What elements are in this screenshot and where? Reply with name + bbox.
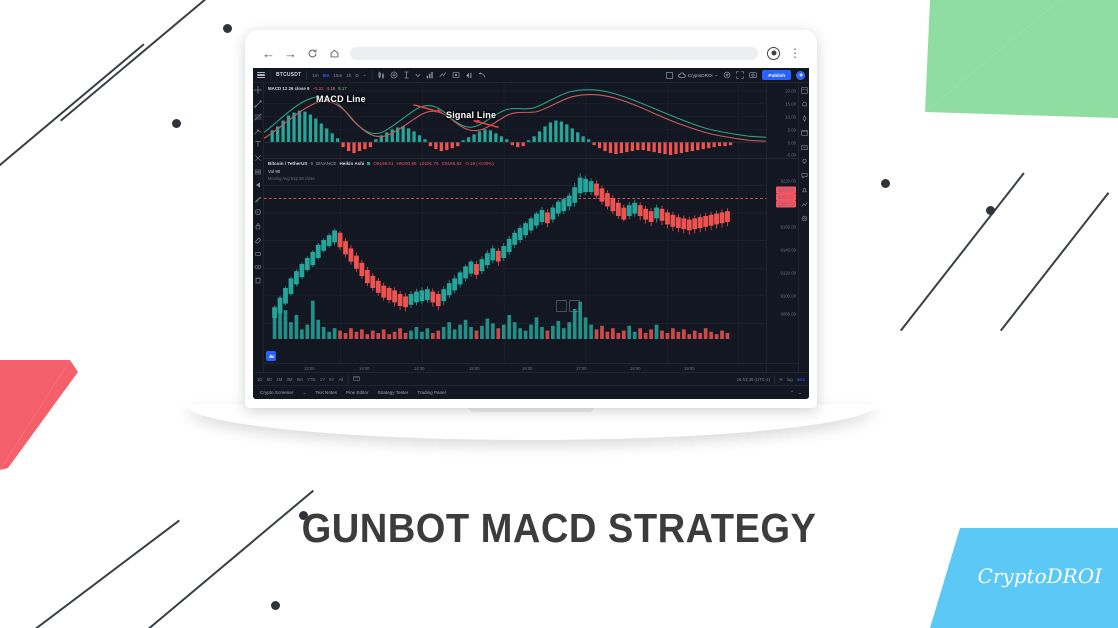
divider: [270, 71, 271, 80]
settings-icon[interactable]: [723, 71, 731, 79]
expand-icon[interactable]: ⌃: [790, 390, 794, 396]
divider: [372, 71, 373, 80]
time-axis-corner: [766, 364, 798, 372]
time-tick: 15:00: [469, 366, 479, 371]
deco-dot-4: [986, 206, 995, 215]
divider: [348, 375, 349, 384]
tab-crypto-screener[interactable]: Crypto Screener: [260, 390, 293, 395]
chart-body: MACD 12 26 close 9 −5.22 4.15 9.17: [253, 83, 809, 372]
shapes-icon[interactable]: [254, 154, 262, 162]
laptop-mockup: ← → ⋮ BTCUSDT: [231, 30, 831, 440]
range-5y[interactable]: 5Y: [329, 377, 334, 382]
reload-icon[interactable]: [306, 47, 319, 60]
divider: [306, 71, 307, 80]
clock-label: 18:53:39 (UTC-4): [737, 377, 770, 382]
browser-window: ← → ⋮ BTCUSDT: [253, 38, 809, 399]
arrow-icon[interactable]: [254, 181, 262, 189]
tradingview-app: BTCUSDT 1m 5m 15m 1h D ⌄: [253, 68, 809, 399]
chevron-down-icon[interactable]: ⌄: [302, 390, 306, 396]
scale-percent-button[interactable]: %: [779, 377, 783, 382]
deco-dot-6: [271, 601, 280, 610]
volume-legend: Vol 90: [268, 169, 280, 174]
watchlist-icon[interactable]: [800, 86, 808, 94]
interval-label: 5: [310, 161, 313, 166]
address-bar[interactable]: [350, 47, 758, 60]
laptop-base: [186, 404, 876, 440]
price-chart-svg: [264, 159, 766, 363]
macd-scale-tick: 0.00: [788, 141, 796, 146]
browser-toolbar: ← → ⋮: [253, 38, 809, 68]
cloud-icon: [678, 72, 686, 78]
hamburger-icon[interactable]: [257, 72, 265, 78]
symbol-label[interactable]: BTCUSDT: [276, 72, 301, 78]
browser-menu-icon[interactable]: ⋮: [789, 47, 800, 60]
macd-value-signal: 9.17: [338, 86, 347, 91]
ohlc-open: O9198.61: [373, 161, 393, 166]
instrument-name[interactable]: Bitcoin / TetherUS: [268, 161, 307, 166]
range-1y[interactable]: 1Y: [320, 377, 325, 382]
profile-icon[interactable]: [767, 47, 780, 60]
tab-pine-editor[interactable]: Pine Editor: [346, 390, 368, 395]
macd-scale-tick: 15.00: [785, 102, 796, 107]
timeframe-1m[interactable]: 1m: [312, 73, 318, 78]
notifications-icon[interactable]: [800, 186, 808, 194]
chart-toolbar-right: CryptoDROi ⌄ Publish: [666, 70, 805, 80]
chart-toolbar: BTCUSDT 1m 5m 15m 1h D ⌄: [253, 68, 809, 83]
macd-scale-tick: 10.00: [785, 115, 796, 120]
right-sidebar: [798, 83, 809, 372]
range-1m[interactable]: 1M: [276, 377, 282, 382]
price-scale-tick: 9140.00: [780, 248, 796, 253]
timeframe-group: 1m 5m 15m 1h D ⌄: [312, 72, 366, 78]
avatar[interactable]: [796, 71, 805, 80]
range-1d[interactable]: 1D: [257, 377, 263, 382]
annotation-macd-line: MACD Line: [316, 94, 366, 104]
time-tick: 14:30: [414, 366, 424, 371]
panel-controls: ⌃ ⌄: [790, 390, 802, 396]
price-pane: Bitcoin / TetherUS 5 BINANCE Heikin Ashi…: [264, 159, 798, 363]
ideas-icon[interactable]: [800, 157, 808, 165]
calendar-icon[interactable]: [800, 129, 808, 137]
tab-strategy-tester[interactable]: Strategy Tester: [378, 390, 409, 395]
tab-text-notes[interactable]: Text Notes: [315, 390, 337, 395]
user-name-label: CryptoDROi: [688, 73, 713, 78]
patterns-icon[interactable]: [254, 168, 262, 176]
scale-log-button[interactable]: log: [787, 377, 793, 382]
range-5d[interactable]: 5D: [267, 377, 273, 382]
news-icon[interactable]: [800, 143, 808, 151]
price-scale-tick: 9160.00: [780, 225, 796, 230]
fib-icon[interactable]: [254, 113, 262, 121]
range-3m[interactable]: 3M: [287, 377, 293, 382]
price-scale-tick: 9100.00: [780, 294, 796, 299]
magnet-icon[interactable]: [254, 208, 262, 216]
range-ytd[interactable]: YTD: [307, 377, 316, 382]
indicator-legend: Moving Avg Exp 50 close: [268, 176, 315, 181]
home-icon[interactable]: [328, 47, 341, 60]
hotlist-icon[interactable]: [800, 115, 808, 123]
macd-scale-tick: 20.00: [785, 89, 796, 94]
user-menu[interactable]: CryptoDROi ⌄: [678, 72, 719, 78]
timeframe-1h[interactable]: 1h: [346, 73, 351, 78]
eraser-icon[interactable]: [254, 236, 262, 244]
timeframe-5m[interactable]: 5m: [323, 73, 330, 78]
divider: [774, 375, 775, 384]
price-legend: Bitcoin / TetherUS 5 BINANCE Heikin Ashi…: [268, 161, 494, 166]
collapse-icon[interactable]: ⌄: [798, 390, 802, 396]
goto-date-icon[interactable]: [353, 375, 360, 383]
status-dot: [367, 162, 370, 165]
data-window-icon[interactable]: [800, 200, 808, 208]
candles-icon[interactable]: [378, 71, 385, 79]
range-6m[interactable]: 6M: [297, 377, 303, 382]
settings-icon[interactable]: [800, 215, 808, 223]
deco-dot-2: [172, 119, 181, 128]
time-tick: 13:00: [304, 366, 314, 371]
price-scale-tick: 9080.00: [780, 312, 796, 317]
chat-icon[interactable]: [800, 172, 808, 180]
page-title: GUNBOT MACD STRATEGY: [39, 505, 1079, 552]
ohlc-high: H9200.85: [397, 161, 417, 166]
chart-footer: 1D 5D 1M 3M 6M YTD 1Y 5Y All 18:53:39 (U…: [253, 372, 809, 385]
timeframe-15m[interactable]: 15m: [333, 73, 342, 78]
price-tag-low: 9184.51: [776, 201, 796, 208]
time-axis[interactable]: 13:00 14:00 14:30 15:00 16:00 17:00 18:0…: [264, 363, 798, 372]
bottom-panel-tabs: Crypto Screener ⌄ Text Notes Pine Editor…: [253, 385, 809, 399]
brand-logo: CryptoDROI: [978, 564, 1102, 588]
macd-price-scale[interactable]: 20.00 15.00 10.00 5.00 0.00 -5.00: [766, 83, 798, 158]
alert-icon[interactable]: [452, 71, 460, 79]
hide-drawings-icon[interactable]: [254, 249, 262, 257]
scale-auto-button[interactable]: auto: [797, 377, 805, 382]
chart-panes: MACD 12 26 close 9 −5.22 4.15 9.17: [264, 83, 798, 372]
brush-icon[interactable]: [254, 195, 262, 203]
macd-scale-tick: 5.00: [788, 128, 796, 133]
price-scale-tick: 9220.00: [780, 179, 796, 184]
price-scale-tick: 9120.00: [780, 271, 796, 276]
macd-legend-title: MACD 12 26 close 9: [268, 86, 310, 91]
publish-button[interactable]: Publish: [762, 70, 791, 80]
macd-plot[interactable]: MACD 12 26 close 9 −5.22 4.15 9.17: [264, 83, 766, 158]
time-tick: 16:00: [522, 366, 532, 371]
ohlc-close: C9195.82: [442, 161, 462, 166]
fullscreen-icon[interactable]: [736, 71, 744, 79]
candlesticks: [273, 173, 730, 319]
macd-scale-tick: -5.00: [786, 153, 796, 158]
bars-icon[interactable]: [426, 71, 434, 79]
volume-bars: [273, 301, 730, 339]
chevron-down-icon[interactable]: ⌄: [715, 72, 719, 78]
undo-icon[interactable]: [478, 72, 486, 79]
price-plot[interactable]: Bitcoin / TetherUS 5 BINANCE Heikin Ashi…: [264, 159, 766, 363]
deco-dot-3: [881, 179, 890, 188]
layout-icon[interactable]: [666, 72, 673, 79]
indicators-icon[interactable]: [390, 71, 398, 79]
ohlc-low: L9191.76: [419, 161, 438, 166]
price-tag-mid: 9191.07: [776, 194, 796, 201]
macd-value-hist: −5.22: [313, 86, 324, 91]
forward-icon[interactable]: →: [284, 47, 297, 60]
drawing-toolbar: [253, 83, 264, 372]
macd-pane: MACD 12 26 close 9 −5.22 4.15 9.17: [264, 83, 798, 159]
macd-value-macd: 4.15: [327, 86, 336, 91]
chevron-down-icon[interactable]: ⌄: [363, 72, 367, 78]
replay-icon[interactable]: [465, 72, 473, 79]
exchange-label: BINANCE: [316, 161, 336, 166]
annotation-signal-line: Signal Line: [446, 110, 496, 120]
macd-legend: MACD 12 26 close 9 −5.22 4.15 9.17: [268, 86, 347, 91]
text-icon[interactable]: [254, 140, 262, 148]
time-tick: 19:00: [684, 366, 694, 371]
timeframe-d[interactable]: D: [355, 73, 358, 78]
laptop-screen: ← → ⋮ BTCUSDT: [245, 30, 817, 408]
chevron-down-icon[interactable]: [415, 72, 421, 78]
pitchfork-icon[interactable]: [254, 127, 262, 135]
trend-line-icon[interactable]: [254, 100, 262, 108]
time-tick: 14:00: [359, 366, 369, 371]
back-icon[interactable]: ←: [262, 47, 275, 60]
range-all[interactable]: All: [339, 377, 344, 382]
chart-footer-right: 18:53:39 (UTC-4) % log auto: [737, 375, 805, 384]
snapshot-icon[interactable]: [749, 71, 757, 79]
price-tag-high: 9195.82: [776, 187, 796, 194]
cursor-icon[interactable]: [254, 86, 262, 94]
price-scale[interactable]: 9220.00 9160.00 9140.00 9120.00 9100.00 …: [766, 159, 798, 363]
eye-icon[interactable]: [254, 263, 262, 271]
lock-icon[interactable]: [254, 222, 262, 230]
ohlc-change: -0.19 (-0.00%): [465, 161, 494, 166]
time-tick: 17:00: [576, 366, 586, 371]
time-tick: 18:00: [630, 366, 640, 371]
chart-style-label: Heikin Ashi: [339, 161, 364, 166]
compare-icon[interactable]: [439, 71, 447, 79]
chart-logo-button[interactable]: [266, 351, 276, 361]
alerts-icon[interactable]: [800, 100, 808, 108]
templates-icon[interactable]: [403, 71, 410, 79]
tab-trading-panel[interactable]: Trading Panel: [417, 390, 445, 395]
trash-icon[interactable]: [254, 276, 262, 284]
